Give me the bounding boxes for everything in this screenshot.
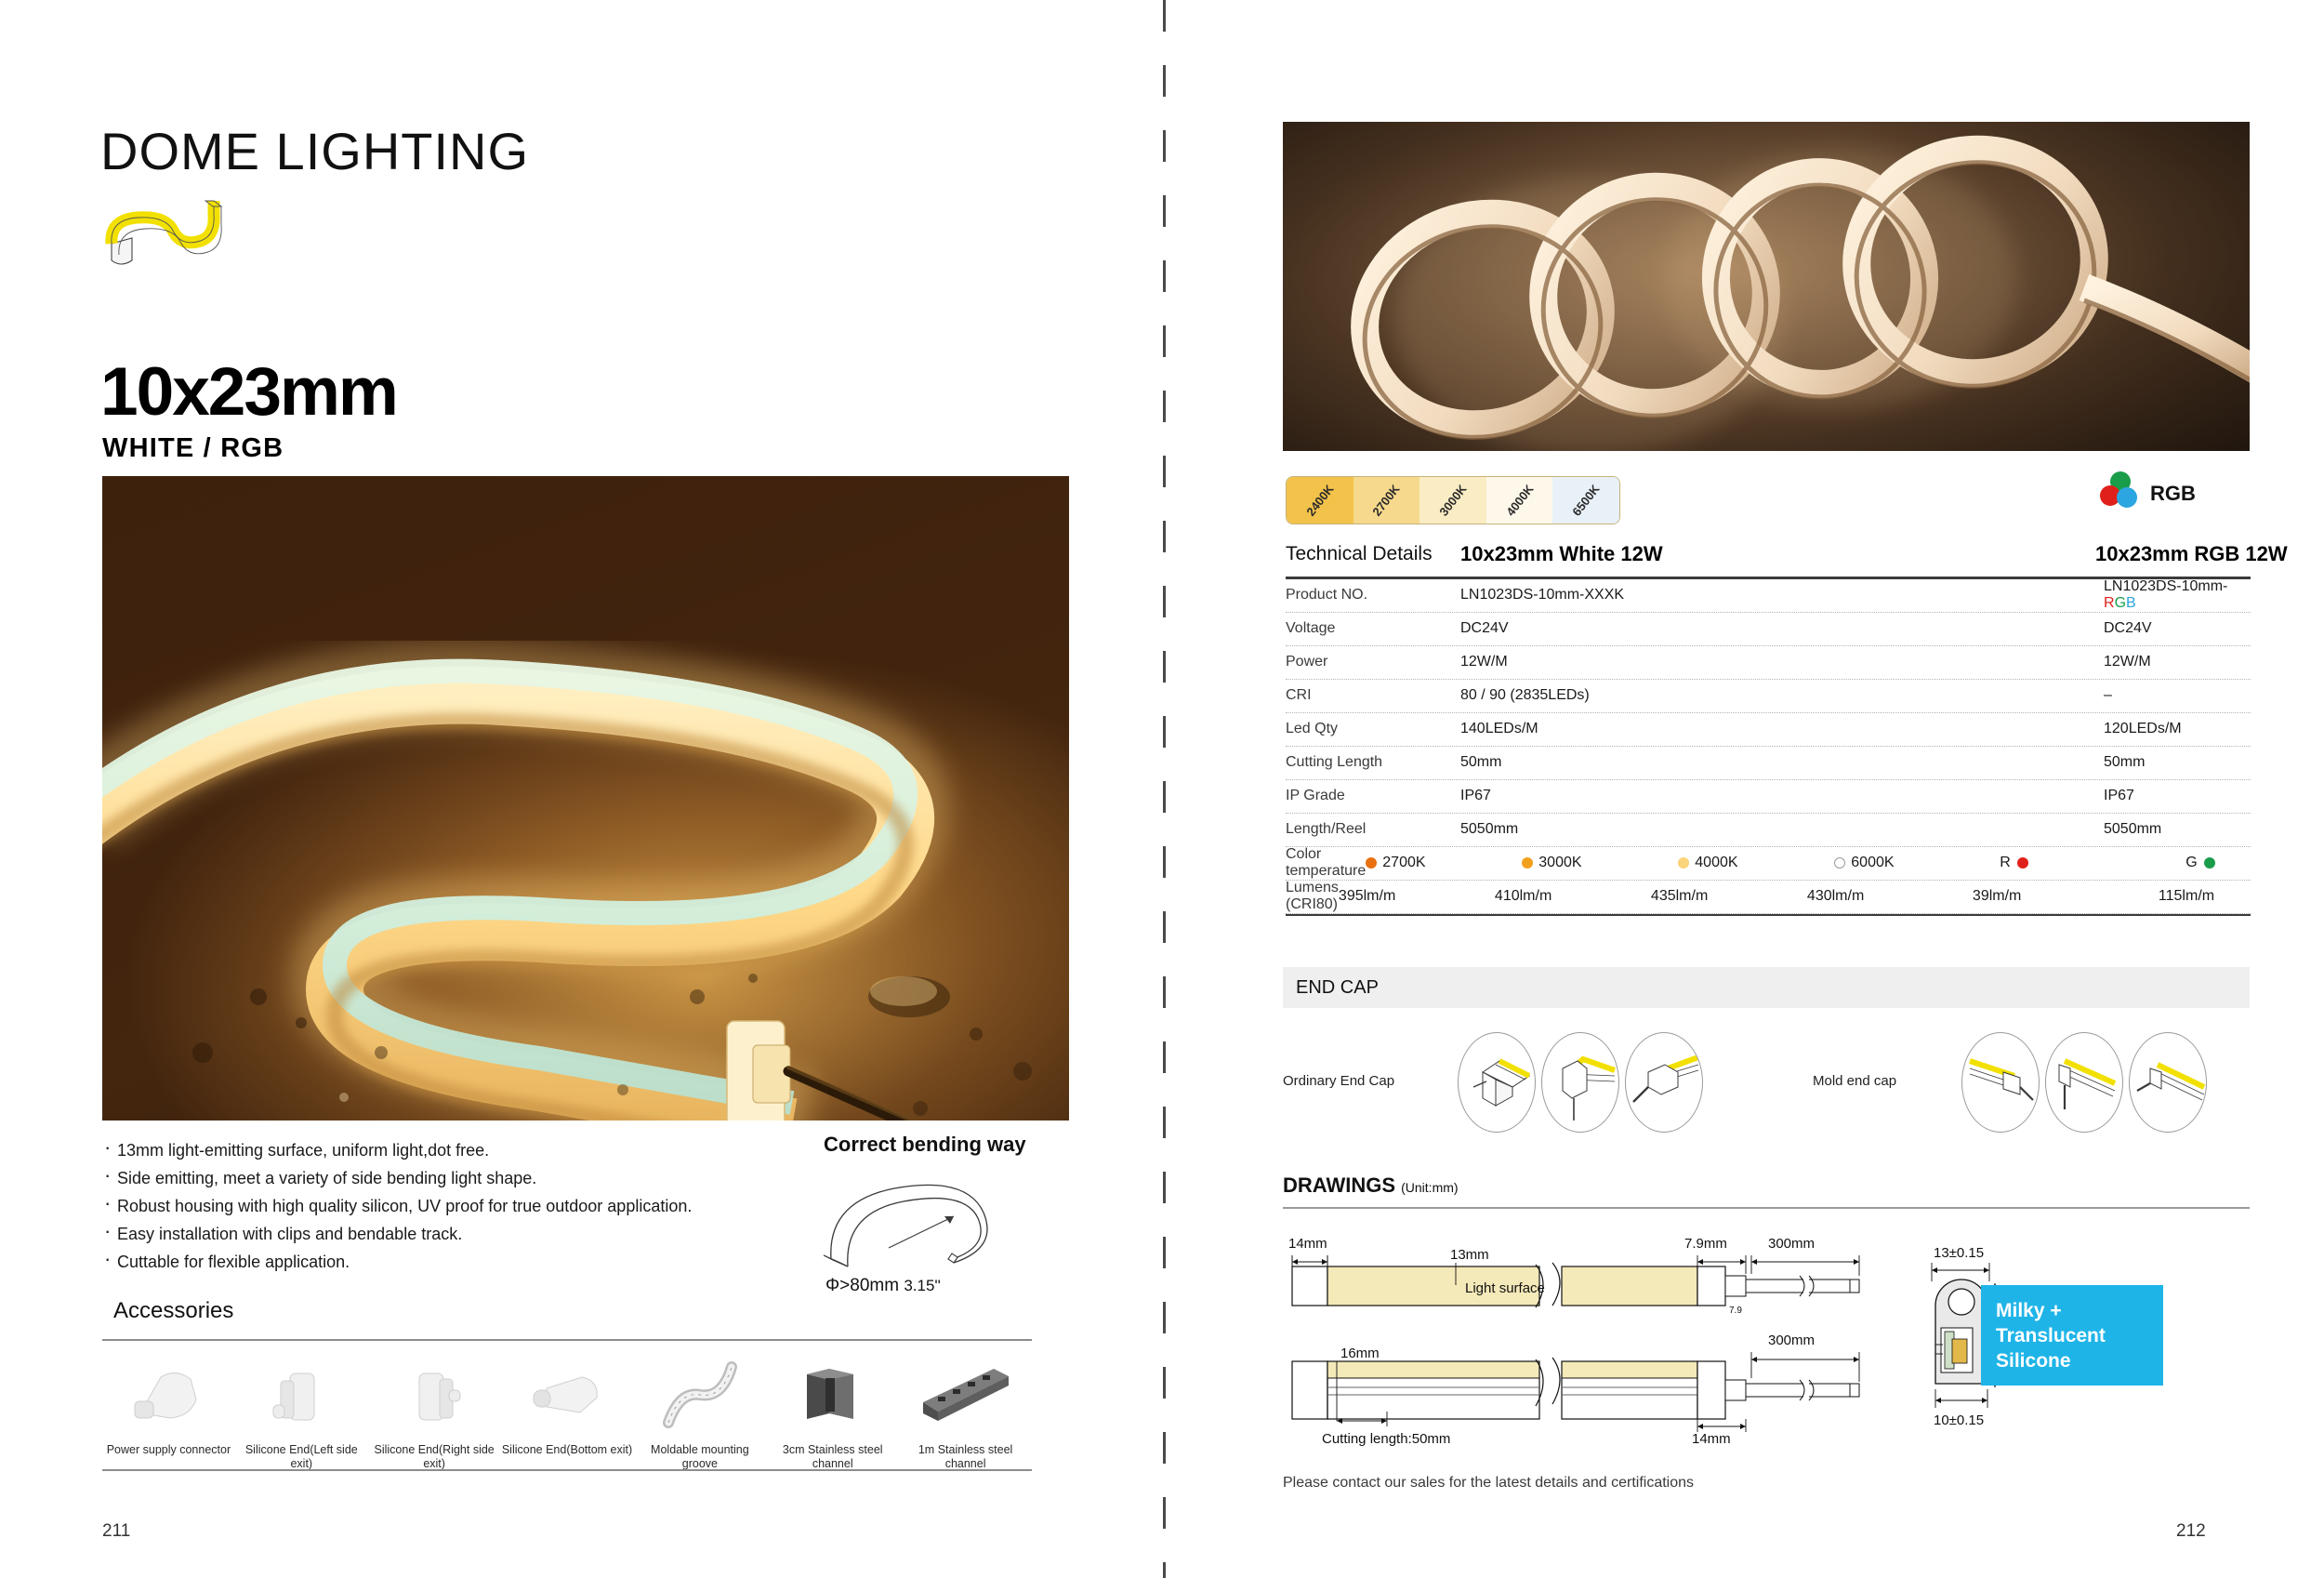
table-row: Length/Reel 5050mm 5050mm — [1286, 814, 2251, 847]
steel-channel-3cm-icon — [766, 1345, 899, 1445]
accessories-label-row: Power supply connector Silicone End(Left… — [102, 1443, 1032, 1471]
lumen-value: 430lm/m — [1807, 888, 1963, 905]
svg-text:300mm: 300mm — [1768, 1333, 1815, 1348]
list-item: 13mm light-emitting surface, uniform lig… — [102, 1136, 753, 1164]
row-value-white: 5050mm — [1460, 821, 2085, 838]
accessories-divider-top — [102, 1339, 1032, 1341]
silicone-end-left-icon — [235, 1345, 368, 1445]
endcap-section-band: END CAP — [1283, 967, 2250, 1008]
mold-endcap-figure-1 — [1961, 1032, 2040, 1133]
silicone-end-right-icon — [368, 1345, 501, 1445]
drawings-section-title: DRAWINGS (Unit:mm) — [1283, 1174, 1459, 1198]
ct-dot-icon — [1522, 857, 1533, 869]
white-column-heading: 10x23mm White 12W — [1460, 542, 1663, 566]
row-label: CRI — [1286, 687, 1460, 704]
row-value-white: 50mm — [1460, 754, 2085, 771]
rgb-badge-label: RGB — [2150, 482, 2196, 506]
lumen-value: 115lm/m — [2159, 888, 2324, 905]
row-value-rgb: 39lm/m 115lm/m 29lm/m — [1963, 888, 2324, 905]
row-label: IP Grade — [1286, 788, 1460, 804]
accessory-label: 1m Stainless steel channel — [899, 1443, 1032, 1471]
svg-text:7.9: 7.9 — [1729, 1306, 1742, 1316]
mold-endcap-label: Mold end cap — [1813, 1073, 1896, 1089]
row-label: Color temperature — [1286, 846, 1366, 880]
svg-text:Cutting length:50mm: Cutting length:50mm — [1322, 1431, 1450, 1447]
rgb-column-heading: 10x23mm RGB 12W — [2095, 542, 2288, 566]
list-item: Easy installation with clips and bendabl… — [102, 1220, 753, 1248]
row-value-white: 395lm/m 410lm/m 435lm/m 430lm/m — [1339, 888, 1963, 905]
row-value-white: DC24V — [1460, 620, 2085, 637]
ct-swatch: 6500K — [1552, 477, 1619, 524]
left-page: DOME LIGHTING 10x23mm WHITE / RGB — [0, 0, 1163, 1578]
row-label: Led Qty — [1286, 721, 1460, 737]
steel-channel-1m-icon — [899, 1345, 1032, 1445]
row-label: Length/Reel — [1286, 821, 1460, 838]
silicone-end-bottom-icon — [501, 1345, 634, 1445]
table-row: CRI 80 / 90 (2835LEDs) – — [1286, 680, 2251, 713]
ct-option-label: 3000K — [1538, 855, 1581, 871]
svg-text:16mm: 16mm — [1340, 1346, 1380, 1361]
row-value-white: IP67 — [1460, 788, 2085, 804]
ct-swatch-label: 4000K — [1503, 482, 1536, 518]
row-label: Lumens (CRI80) — [1286, 880, 1339, 913]
ct-dot-icon — [1366, 857, 1377, 869]
accessories-title: Accessories — [113, 1298, 233, 1324]
row-value-rgb: 5050mm — [2094, 821, 2251, 838]
right-page: 2400K 2700K 3000K 4000K 6500K RGB Techni… — [1163, 0, 2324, 1578]
ct-dot-icon — [1678, 857, 1689, 869]
lumen-value: 395lm/m — [1339, 888, 1495, 905]
accessory-label: Silicone End(Right side exit) — [368, 1443, 501, 1471]
connector-icon — [102, 1345, 235, 1445]
svg-text:300mm: 300mm — [1768, 1236, 1815, 1252]
mounting-groove-icon — [633, 1345, 766, 1445]
row-value-rgb: DC24V — [2094, 620, 2251, 637]
rgb-dot-icon — [2017, 857, 2028, 869]
bending-spec: Φ>80mm 3.15'' — [825, 1276, 941, 1296]
page-title: DOME LIGHTING — [100, 121, 529, 181]
accessory-label: Power supply connector — [102, 1443, 235, 1471]
row-value-white: LN1023DS-10mm-XXXK — [1460, 587, 2085, 603]
spec-table: Product NO. LN1023DS-10mm-XXXK LN1023DS-… — [1286, 577, 2251, 916]
page-number-left: 211 — [102, 1521, 130, 1542]
rgb-option: G — [2185, 855, 2324, 871]
table-bottom-rule — [1286, 914, 2251, 917]
row-value-rgb: 50mm — [2094, 754, 2251, 771]
accessory-label: Silicone End(Left side exit) — [235, 1443, 368, 1471]
product-size-heading: 10x23mm — [100, 353, 397, 431]
svg-text:13mm: 13mm — [1450, 1247, 1489, 1263]
accessories-divider-bottom — [102, 1469, 1032, 1471]
ct-option: 3000K — [1522, 855, 1678, 871]
row-label: Product NO. — [1286, 587, 1460, 603]
list-item: Side emitting, meet a variety of side be… — [102, 1164, 753, 1192]
accessory-label: Silicone End(Bottom exit) — [501, 1443, 634, 1471]
bending-diameter-inch: 3.15'' — [904, 1277, 941, 1294]
drawings-title-text: DRAWINGS — [1283, 1174, 1395, 1197]
ordinary-endcap-label: Ordinary End Cap — [1283, 1073, 1394, 1089]
row-value-white: 2700K 3000K 4000K 6000K — [1366, 855, 1990, 871]
lumen-value: 410lm/m — [1495, 888, 1651, 905]
ct-option: 6000K — [1834, 855, 1990, 871]
product-variants-subtitle: WHITE / RGB — [102, 433, 284, 464]
milky-translucent-badge: Milky + Translucent Silicone — [1981, 1285, 2163, 1386]
table-row: Cutting Length 50mm 50mm — [1286, 747, 2251, 780]
row-value-white: 80 / 90 (2835LEDs) — [1460, 687, 2085, 704]
row-label: Cutting Length — [1286, 754, 1460, 771]
table-row-lumens: Lumens (CRI80) 395lm/m 410lm/m 435lm/m 4… — [1286, 881, 2251, 914]
row-value-rgb: 12W/M — [2094, 654, 2251, 670]
drawing-top-view: 14mm 13mm Light surface — [1288, 1236, 1859, 1316]
rgb-dot-icon — [2204, 857, 2215, 869]
milky-line-3: Silicone — [1996, 1350, 2071, 1372]
endcap-section-title: END CAP — [1296, 977, 1379, 999]
drawings-unit-text: (Unit:mm) — [1401, 1180, 1458, 1195]
row-value-white: 140LEDs/M — [1460, 721, 2085, 737]
bending-diameter: Φ>80mm — [825, 1276, 899, 1295]
row-label: Voltage — [1286, 620, 1460, 637]
list-item: Robust housing with high quality silicon… — [102, 1192, 753, 1220]
ct-option-label: 6000K — [1851, 855, 1894, 871]
color-temperature-swatch-bar: 2400K 2700K 3000K 4000K 6500K — [1286, 476, 1620, 524]
milky-line-1: Milky + — [1996, 1300, 2062, 1321]
rgb-product-no: LN1023DS-10mm-RGB — [2104, 578, 2227, 611]
lumen-value: 39lm/m — [1973, 888, 2159, 905]
table-row: Voltage DC24V DC24V — [1286, 613, 2251, 646]
accessory-label: Moldable mounting groove — [633, 1443, 766, 1471]
ct-swatch: 3000K — [1419, 477, 1486, 524]
row-value-white: 12W/M — [1460, 654, 2085, 670]
table-row: Product NO. LN1023DS-10mm-XXXK LN1023DS-… — [1286, 579, 2251, 613]
ct-option-label: 4000K — [1695, 855, 1737, 871]
product-hero-photo — [102, 476, 1069, 1121]
milky-badge-text: Milky + Translucent Silicone — [1981, 1298, 2106, 1373]
svg-text:10±0.15: 10±0.15 — [1934, 1412, 1984, 1428]
mold-endcap-figure-2 — [2045, 1032, 2123, 1133]
table-row: IP Grade IP67 IP67 — [1286, 780, 2251, 814]
rgb-option-label: G — [2185, 855, 2197, 871]
technical-details-heading: Technical Details — [1286, 543, 1433, 565]
svg-text:7.9mm: 7.9mm — [1684, 1236, 1727, 1252]
svg-text:14mm: 14mm — [1288, 1236, 1327, 1252]
ct-option: 4000K — [1678, 855, 1834, 871]
table-row-color-temperature: Color temperature 2700K 3000K 4000K 6000… — [1286, 847, 2251, 881]
list-item: Cuttable for flexible application. — [102, 1248, 753, 1276]
ct-swatch: 2700K — [1353, 477, 1420, 524]
ct-option-label: 2700K — [1382, 855, 1425, 871]
row-label: Power — [1286, 654, 1460, 670]
endcap-illustrations: Ordinary End Cap — [1283, 1032, 2250, 1134]
catalog-spread: DOME LIGHTING 10x23mm WHITE / RGB — [0, 0, 2324, 1578]
svg-text:Light surface: Light surface — [1465, 1280, 1545, 1296]
lumen-value: 435lm/m — [1651, 888, 1807, 905]
row-value-rgb: R G B — [1990, 855, 2324, 871]
svg-text:13±0.15: 13±0.15 — [1934, 1245, 1984, 1261]
drawings-divider — [1283, 1207, 2250, 1209]
accessories-image-row — [102, 1345, 1032, 1445]
row-value-rgb: – — [2094, 687, 2251, 704]
rgb-option: R — [2000, 855, 2185, 871]
rgb-circles-icon — [2097, 470, 2140, 512]
bending-section-title: Correct bending way — [824, 1133, 1026, 1157]
ordinary-endcap-figure-3 — [1625, 1032, 1703, 1133]
accessory-label: 3cm Stainless steel channel — [766, 1443, 899, 1471]
drawing-side-view: 16mm Cutting length:50mm 300mm — [1292, 1333, 1859, 1447]
ct-swatch: 4000K — [1486, 477, 1553, 524]
ordinary-endcap-figure-1 — [1458, 1032, 1536, 1133]
sales-contact-note: Please contact our sales for the latest … — [1283, 1475, 1694, 1492]
svg-text:14mm: 14mm — [1692, 1431, 1731, 1447]
row-value-rgb: LN1023DS-10mm-RGB — [2094, 578, 2251, 612]
bending-diagram-icon — [818, 1170, 1032, 1272]
rgb-option-label: R — [2000, 855, 2011, 871]
table-row: Power 12W/M 12W/M — [1286, 646, 2251, 680]
mold-endcap-figure-3 — [2129, 1032, 2207, 1133]
ordinary-endcap-figure-2 — [1541, 1032, 1619, 1133]
dome-lighting-logo-icon — [100, 182, 286, 268]
feature-list: 13mm light-emitting surface, uniform lig… — [102, 1136, 753, 1276]
ct-option: 2700K — [1366, 855, 1522, 871]
table-row: Led Qty 140LEDs/M 120LEDs/M — [1286, 713, 2251, 747]
milky-line-2: Translucent — [1996, 1325, 2106, 1346]
coiled-strip-photo — [1283, 122, 2250, 451]
page-number-right: 212 — [2176, 1521, 2206, 1542]
ct-swatch-label: 2400K — [1303, 482, 1336, 518]
ct-dot-icon — [1834, 857, 1845, 869]
ct-swatch-label: 3000K — [1436, 482, 1469, 518]
row-value-rgb: 120LEDs/M — [2094, 721, 2251, 737]
ct-swatch-label: 2700K — [1370, 482, 1403, 518]
row-value-rgb: IP67 — [2094, 788, 2251, 804]
ct-swatch-label: 6500K — [1569, 482, 1602, 518]
ct-swatch: 2400K — [1287, 477, 1353, 524]
